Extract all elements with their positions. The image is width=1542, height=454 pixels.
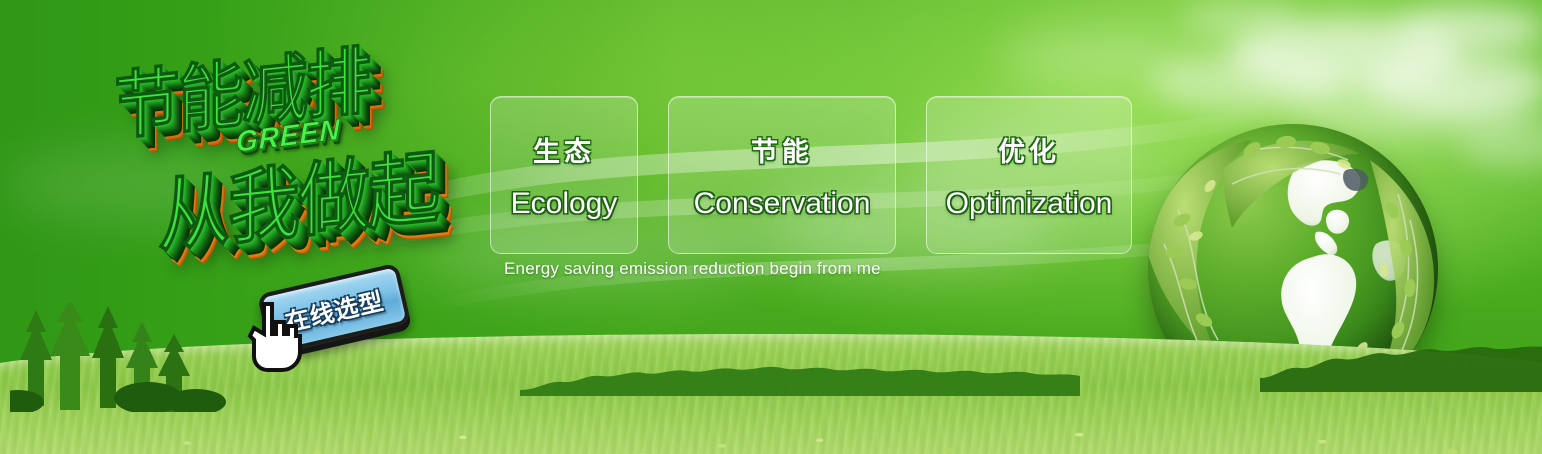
eco-hero-banner: 节能减排 GREEN 从我做起 在线选型 生态 Ecology 节能 Conse…	[0, 0, 1542, 454]
feature-card-list: 生态 Ecology 节能 Conservation 优化 Optimizati…	[490, 96, 1132, 254]
banner-tagline: Energy saving emission reduction begin f…	[504, 259, 881, 279]
feature-card-en-label: Ecology	[511, 187, 618, 221]
feature-card-en-label: Conservation	[694, 187, 871, 221]
feature-card-conservation[interactable]: 节能 Conservation	[668, 96, 896, 254]
feature-card-en-label: Optimization	[946, 187, 1113, 221]
feature-card-cn-label: 生态	[533, 130, 595, 169]
feature-card-ecology[interactable]: 生态 Ecology	[490, 96, 638, 254]
grass-field-icon	[0, 334, 1542, 454]
feature-card-cn-label: 节能	[751, 130, 813, 169]
feature-card-optimization[interactable]: 优化 Optimization	[926, 96, 1132, 254]
online-selection-button-label: 在线选型	[281, 281, 386, 338]
feature-card-cn-label: 优化	[998, 130, 1060, 169]
